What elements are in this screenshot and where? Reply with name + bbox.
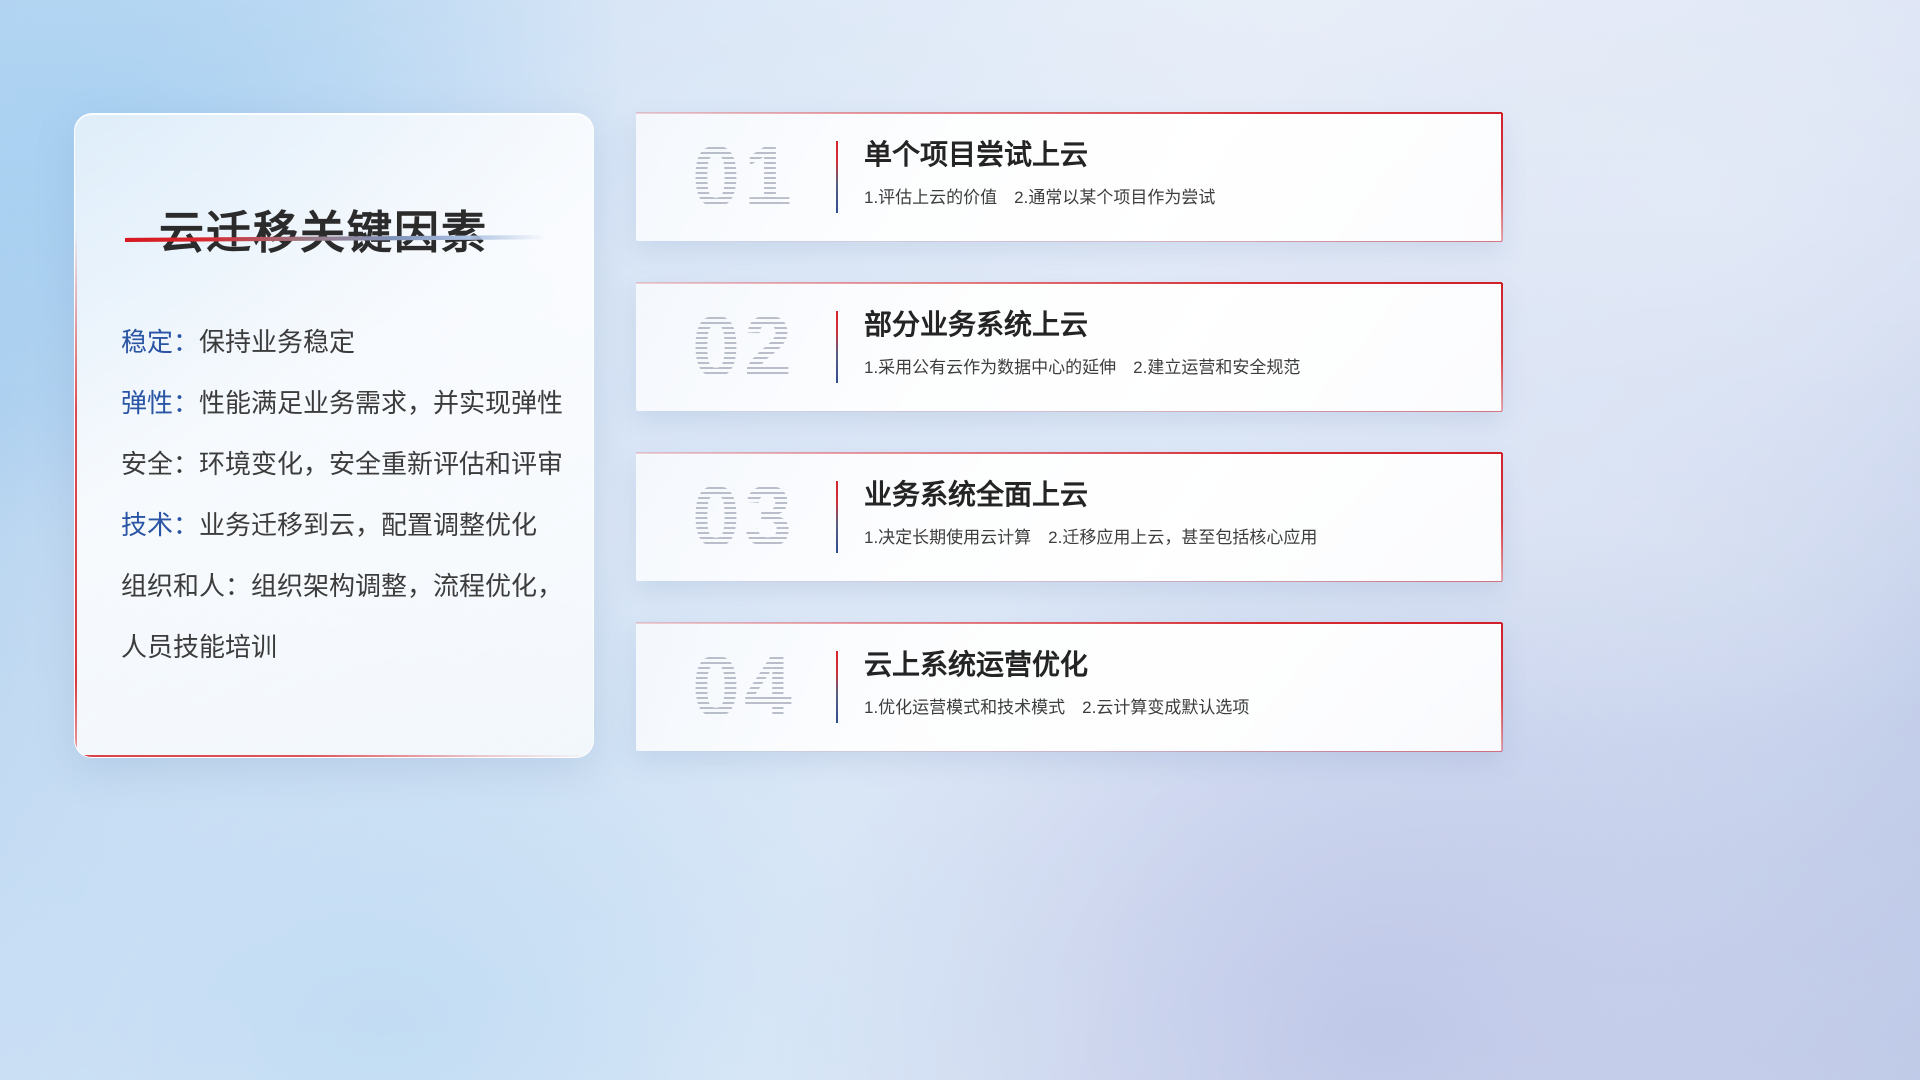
step-description: 1.采用公有云作为数据中心的延伸 2.建立运营和安全规范 <box>864 353 1472 383</box>
factor-label: 组织和人： <box>121 571 251 601</box>
factor-text: 业务迁移到云，配置调整优化 <box>199 510 537 540</box>
step-number-03: 03 <box>664 465 824 569</box>
card-right-accent <box>1501 623 1503 751</box>
step-card-01[interactable]: 01 单个项目尝试上云 1.评估上云的价值 2.通常以某个项目作为尝试 <box>636 113 1502 241</box>
step-title: 业务系统全面上云 <box>864 475 1472 515</box>
step-divider-icon <box>836 311 838 383</box>
factor-text: 保持业务稳定 <box>199 327 355 357</box>
step-title: 单个项目尝试上云 <box>864 135 1472 175</box>
list-item: 组织和人：组织架构调整，流程优化， <box>121 556 569 617</box>
card-bottom-accent <box>636 241 1502 242</box>
factor-text: 人员技能培训 <box>121 632 277 662</box>
factor-label: 技术： <box>121 510 199 540</box>
step-title: 云上系统运营优化 <box>864 645 1472 685</box>
step-card-04[interactable]: 04 云上系统运营优化 1.优化运营模式和技术模式 2.云计算变成默认选项 <box>636 623 1502 751</box>
page-title: 云迁移关键因素 <box>159 196 488 261</box>
step-divider-icon <box>836 141 838 213</box>
step-number-02: 02 <box>664 295 824 399</box>
step-text-block: 部分业务系统上云 1.采用公有云作为数据中心的延伸 2.建立运营和安全规范 <box>864 305 1472 383</box>
factors-list: 稳定：保持业务稳定 弹性：性能满足业务需求，并实现弹性 安全：环境变化，安全重新… <box>121 312 569 678</box>
factor-label: 安全： <box>121 449 199 479</box>
card-top-accent <box>636 282 1502 284</box>
key-factors-panel: 云迁移关键因素 稳定：保持业务稳定 弹性：性能满足业务需求，并实现弹性 安全：环… <box>74 113 594 758</box>
migration-steps-list: 01 单个项目尝试上云 1.评估上云的价值 2.通常以某个项目作为尝试 02 部… <box>636 113 1502 793</box>
step-text-block: 业务系统全面上云 1.决定长期使用云计算 2.迁移应用上云，甚至包括核心应用 <box>864 475 1472 553</box>
step-text-block: 云上系统运营优化 1.优化运营模式和技术模式 2.云计算变成默认选项 <box>864 645 1472 723</box>
step-title: 部分业务系统上云 <box>864 305 1472 345</box>
card-top-accent <box>636 622 1502 624</box>
step-divider-icon <box>836 651 838 723</box>
factor-text: 性能满足业务需求，并实现弹性 <box>199 388 563 418</box>
list-item: 技术：业务迁移到云，配置调整优化 <box>121 495 569 556</box>
step-card-03[interactable]: 03 业务系统全面上云 1.决定长期使用云计算 2.迁移应用上云，甚至包括核心应… <box>636 453 1502 581</box>
card-right-accent <box>1501 453 1503 581</box>
list-item: 人员技能培训 <box>121 617 569 678</box>
card-top-accent <box>636 112 1502 114</box>
list-item: 稳定：保持业务稳定 <box>121 312 569 373</box>
card-bottom-accent <box>636 751 1502 752</box>
step-text-block: 单个项目尝试上云 1.评估上云的价值 2.通常以某个项目作为尝试 <box>864 135 1472 213</box>
step-description: 1.优化运营模式和技术模式 2.云计算变成默认选项 <box>864 693 1472 723</box>
factor-label: 稳定： <box>121 327 199 357</box>
step-card-02[interactable]: 02 部分业务系统上云 1.采用公有云作为数据中心的延伸 2.建立运营和安全规范 <box>636 283 1502 411</box>
card-right-accent <box>1501 113 1503 241</box>
list-item: 安全：环境变化，安全重新评估和评审 <box>121 434 569 495</box>
card-bottom-accent <box>636 581 1502 582</box>
step-number-04: 04 <box>664 635 824 739</box>
factor-text: 环境变化，安全重新评估和评审 <box>199 449 563 479</box>
step-number-01: 01 <box>664 125 824 229</box>
list-item: 弹性：性能满足业务需求，并实现弹性 <box>121 373 569 434</box>
factor-label: 弹性： <box>121 388 199 418</box>
step-description: 1.评估上云的价值 2.通常以某个项目作为尝试 <box>864 183 1472 213</box>
step-description: 1.决定长期使用云计算 2.迁移应用上云，甚至包括核心应用 <box>864 523 1472 553</box>
card-bottom-accent <box>636 411 1502 412</box>
factor-text: 组织架构调整，流程优化， <box>251 571 563 601</box>
card-top-accent <box>636 452 1502 454</box>
card-right-accent <box>1501 283 1503 411</box>
step-divider-icon <box>836 481 838 553</box>
